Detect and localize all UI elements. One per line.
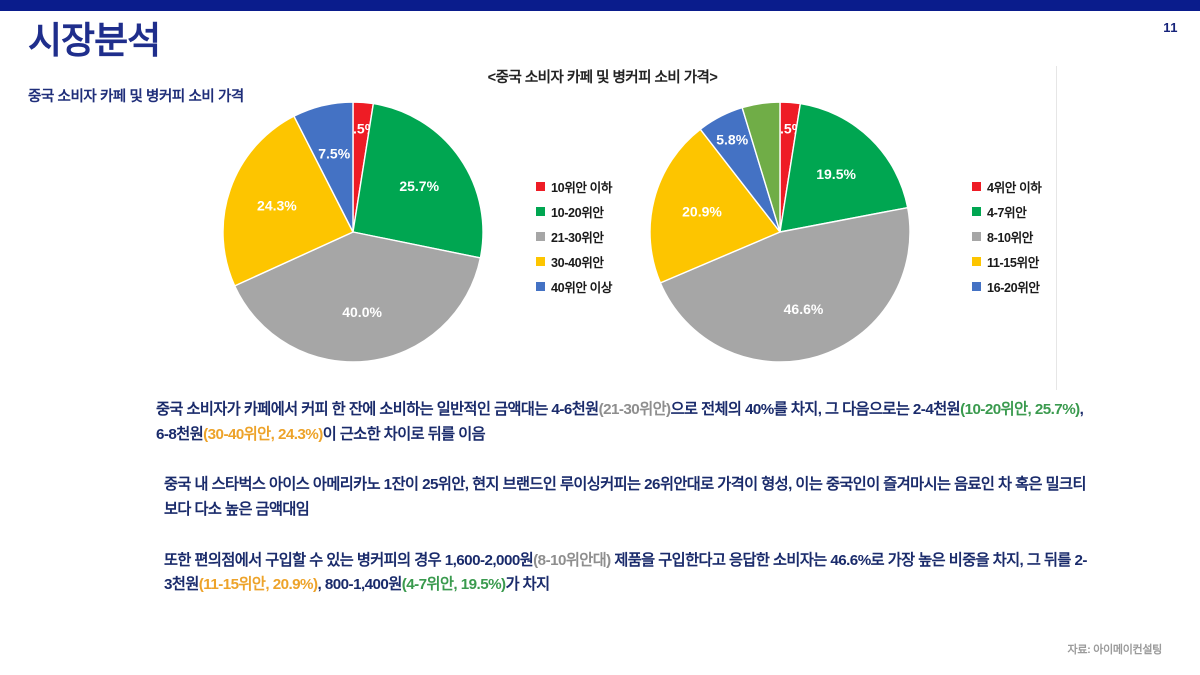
legend-cafe-label: 10위안 이하 xyxy=(551,177,612,196)
body-copy: 중국 소비자가 카페에서 커피 한 잔에 소비하는 일반적인 금액대는 4-6천… xyxy=(156,398,1091,598)
pie-cafe-value-label: 7.5% xyxy=(318,146,350,162)
legend-bottled-item[interactable]: 4-7위안 xyxy=(972,199,1041,224)
legend-cafe-label: 10-20위안 xyxy=(551,202,604,221)
legend-swatch-icon xyxy=(972,282,981,291)
chart-area: <중국 소비자 카페 및 병커피 소비 가격> 2.5%25.7%40.0%24… xyxy=(150,58,1055,378)
legend-bottled-label: 11-15위안 xyxy=(987,252,1039,271)
legend-cafe-item[interactable]: 21-30위안 xyxy=(536,224,612,249)
legend-swatch-icon xyxy=(536,257,545,266)
legend-cafe-item[interactable]: 10위안 이하 xyxy=(536,174,612,199)
p1-text-b: 으로 전체의 40%를 차지, 그 다음으로는 2-4천원 xyxy=(671,401,961,418)
legend-cafe-item[interactable]: 40위안 이상 xyxy=(536,274,612,299)
legend-swatch-icon xyxy=(536,232,545,241)
legend-cafe-item[interactable]: 30-40위안 xyxy=(536,249,612,274)
chart-title: <중국 소비자 카페 및 병커피 소비 가격> xyxy=(150,66,1055,87)
p1-text-d: 이 근소한 차이로 뒤를 이음 xyxy=(323,426,485,443)
pie-cafe-value-label: 25.7% xyxy=(399,178,439,194)
legend-bottled: 4위안 이하4-7위안8-10위안11-15위안16-20위안 xyxy=(972,174,1041,299)
paragraph-2: 중국 내 스타벅스 아이스 아메리카노 1잔이 25위안, 현지 브랜드인 루이… xyxy=(156,473,1091,522)
source-note: 자료: 아이메이컨설팅 xyxy=(1068,641,1163,657)
legend-swatch-icon xyxy=(972,182,981,191)
p3-highlight-gray: (8-10위안대) xyxy=(533,552,610,569)
legend-bottled-item[interactable]: 4위안 이하 xyxy=(972,174,1041,199)
pie-bottled-value-label: 5.8% xyxy=(716,132,748,148)
top-accent-bar xyxy=(0,0,1200,11)
legend-swatch-icon xyxy=(536,207,545,216)
pie-cafe-value-label: 24.3% xyxy=(257,197,297,213)
legend-bottled-item[interactable]: 8-10위안 xyxy=(972,224,1041,249)
p3-text-a: 또한 편의점에서 구입할 수 있는 병커피의 경우 1,600-2,000원 xyxy=(164,552,533,569)
pie-bottled-value-label: 19.5% xyxy=(816,166,856,182)
legend-swatch-icon xyxy=(972,232,981,241)
p1-text-a: 중국 소비자가 카페에서 커피 한 잔에 소비하는 일반적인 금액대는 4-6천… xyxy=(156,401,599,418)
p3-highlight-orange: (11-15위안, 20.9%) xyxy=(199,576,318,593)
p3-highlight-green: (4-7위안, 19.5%) xyxy=(402,576,506,593)
legend-bottled-label: 16-20위안 xyxy=(987,277,1040,296)
pie-chart-cafe-svg: 2.5%25.7%40.0%24.3%7.5% xyxy=(188,100,518,365)
paragraph-3: 또한 편의점에서 구입할 수 있는 병커피의 경우 1,600-2,000원(8… xyxy=(156,549,1091,598)
legend-swatch-icon xyxy=(536,282,545,291)
pie-chart-cafe: 2.5%25.7%40.0%24.3%7.5% 10위안 이하10-20위안21… xyxy=(188,100,608,370)
pie-chart-bottled-svg: 2.5%19.5%46.6%20.9%5.8% xyxy=(612,100,952,365)
legend-swatch-icon xyxy=(972,257,981,266)
legend-cafe: 10위안 이하10-20위안21-30위안30-40위안40위안 이상 xyxy=(536,174,612,299)
legend-cafe-label: 21-30위안 xyxy=(551,227,604,246)
legend-bottled-label: 4위안 이하 xyxy=(987,177,1041,196)
legend-bottled-label: 4-7위안 xyxy=(987,202,1026,221)
legend-swatch-icon xyxy=(536,182,545,191)
p1-highlight-orange: (30-40위안, 24.3%) xyxy=(203,426,323,443)
p1-highlight-green: (10-20위안, 25.7%) xyxy=(960,401,1080,418)
legend-cafe-label: 30-40위안 xyxy=(551,252,604,271)
slide-root: 11 시장분석 중국 소비자 카페 및 병커피 소비 가격 <중국 소비자 카페… xyxy=(0,0,1200,675)
p1-highlight-gray: (21-30위안) xyxy=(599,401,671,418)
legend-cafe-label: 40위안 이상 xyxy=(551,277,612,296)
legend-bottled-item[interactable]: 11-15위안 xyxy=(972,249,1041,274)
p3-text-c: , 800-1,400원 xyxy=(318,576,402,593)
pie-bottled-value-label: 20.9% xyxy=(682,204,722,220)
pie-cafe-value-label: 40.0% xyxy=(342,304,382,320)
legend-bottled-item[interactable]: 16-20위안 xyxy=(972,274,1041,299)
legend-swatch-icon xyxy=(972,207,981,216)
pie-chart-bottled: 2.5%19.5%46.6%20.9%5.8% 4위안 이하4-7위안8-10위… xyxy=(612,100,1042,370)
page-number: 11 xyxy=(1163,20,1178,35)
pie-bottled-value-label: 46.6% xyxy=(784,301,824,317)
paragraph-1: 중국 소비자가 카페에서 커피 한 잔에 소비하는 일반적인 금액대는 4-6천… xyxy=(156,398,1091,447)
p3-text-d: 가 차지 xyxy=(506,576,550,593)
legend-bottled-label: 8-10위안 xyxy=(987,227,1033,246)
legend-cafe-item[interactable]: 10-20위안 xyxy=(536,199,612,224)
page-title: 시장분석 xyxy=(28,22,160,61)
